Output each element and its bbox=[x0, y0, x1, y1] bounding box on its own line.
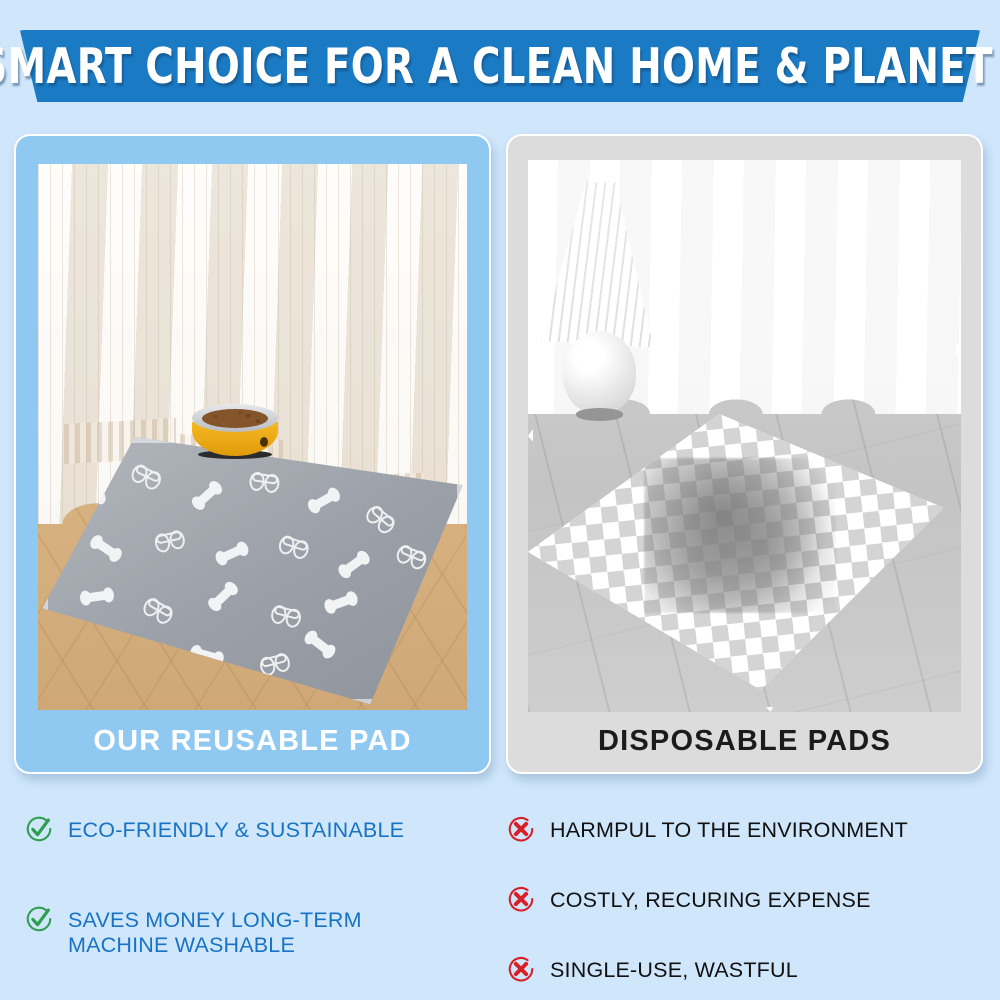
card-caption: DISPOSABLE PADS bbox=[508, 710, 981, 772]
header-banner: SMART CHOICE FOR A CLEAN HOME & PLANET bbox=[0, 30, 1000, 102]
x-circle-icon bbox=[506, 954, 536, 984]
comparison-cards: OUR REUSABLE PAD DISPOSABLE PADS bbox=[0, 134, 1000, 782]
list-item-label: SINGLE-USE, WASTFUL bbox=[550, 958, 798, 983]
list-item-label: HARMPUL TO THE ENVIRONMENT bbox=[550, 818, 908, 843]
feature-lists: ECO-FRIENDLY & SUSTAINABLE SAVES MONEY L… bbox=[0, 800, 1000, 1000]
page-title: SMART CHOICE FOR A CLEAN HOME & PLANET bbox=[58, 30, 913, 102]
list-item: COSTLY, RECURING EXPENSE bbox=[506, 888, 871, 914]
disposable-pad-photo bbox=[528, 160, 961, 712]
card-disposable-pads: DISPOSABLE PADS bbox=[506, 134, 983, 774]
pet-food-bowl bbox=[192, 404, 278, 456]
list-item-label: ECO-FRIENDLY & SUSTAINABLE bbox=[68, 818, 404, 843]
x-circle-icon bbox=[506, 884, 536, 914]
reusable-pad-photo bbox=[38, 164, 467, 710]
check-circle-icon bbox=[24, 814, 54, 844]
list-item: SINGLE-USE, WASTFUL bbox=[506, 958, 798, 984]
grayscale-scene bbox=[528, 160, 961, 712]
list-item: SAVES MONEY LONG-TERM MACHINE WASHABLE bbox=[24, 908, 362, 958]
x-circle-icon bbox=[506, 814, 536, 844]
check-circle-icon bbox=[24, 904, 54, 934]
card-reusable-pad: OUR REUSABLE PAD bbox=[14, 134, 491, 774]
list-item-label: COSTLY, RECURING EXPENSE bbox=[550, 888, 871, 913]
list-item-label: SAVES MONEY LONG-TERM MACHINE WASHABLE bbox=[68, 908, 362, 958]
list-item: ECO-FRIENDLY & SUSTAINABLE bbox=[24, 818, 404, 844]
card-caption: OUR REUSABLE PAD bbox=[16, 710, 489, 772]
list-item: HARMPUL TO THE ENVIRONMENT bbox=[506, 818, 908, 844]
